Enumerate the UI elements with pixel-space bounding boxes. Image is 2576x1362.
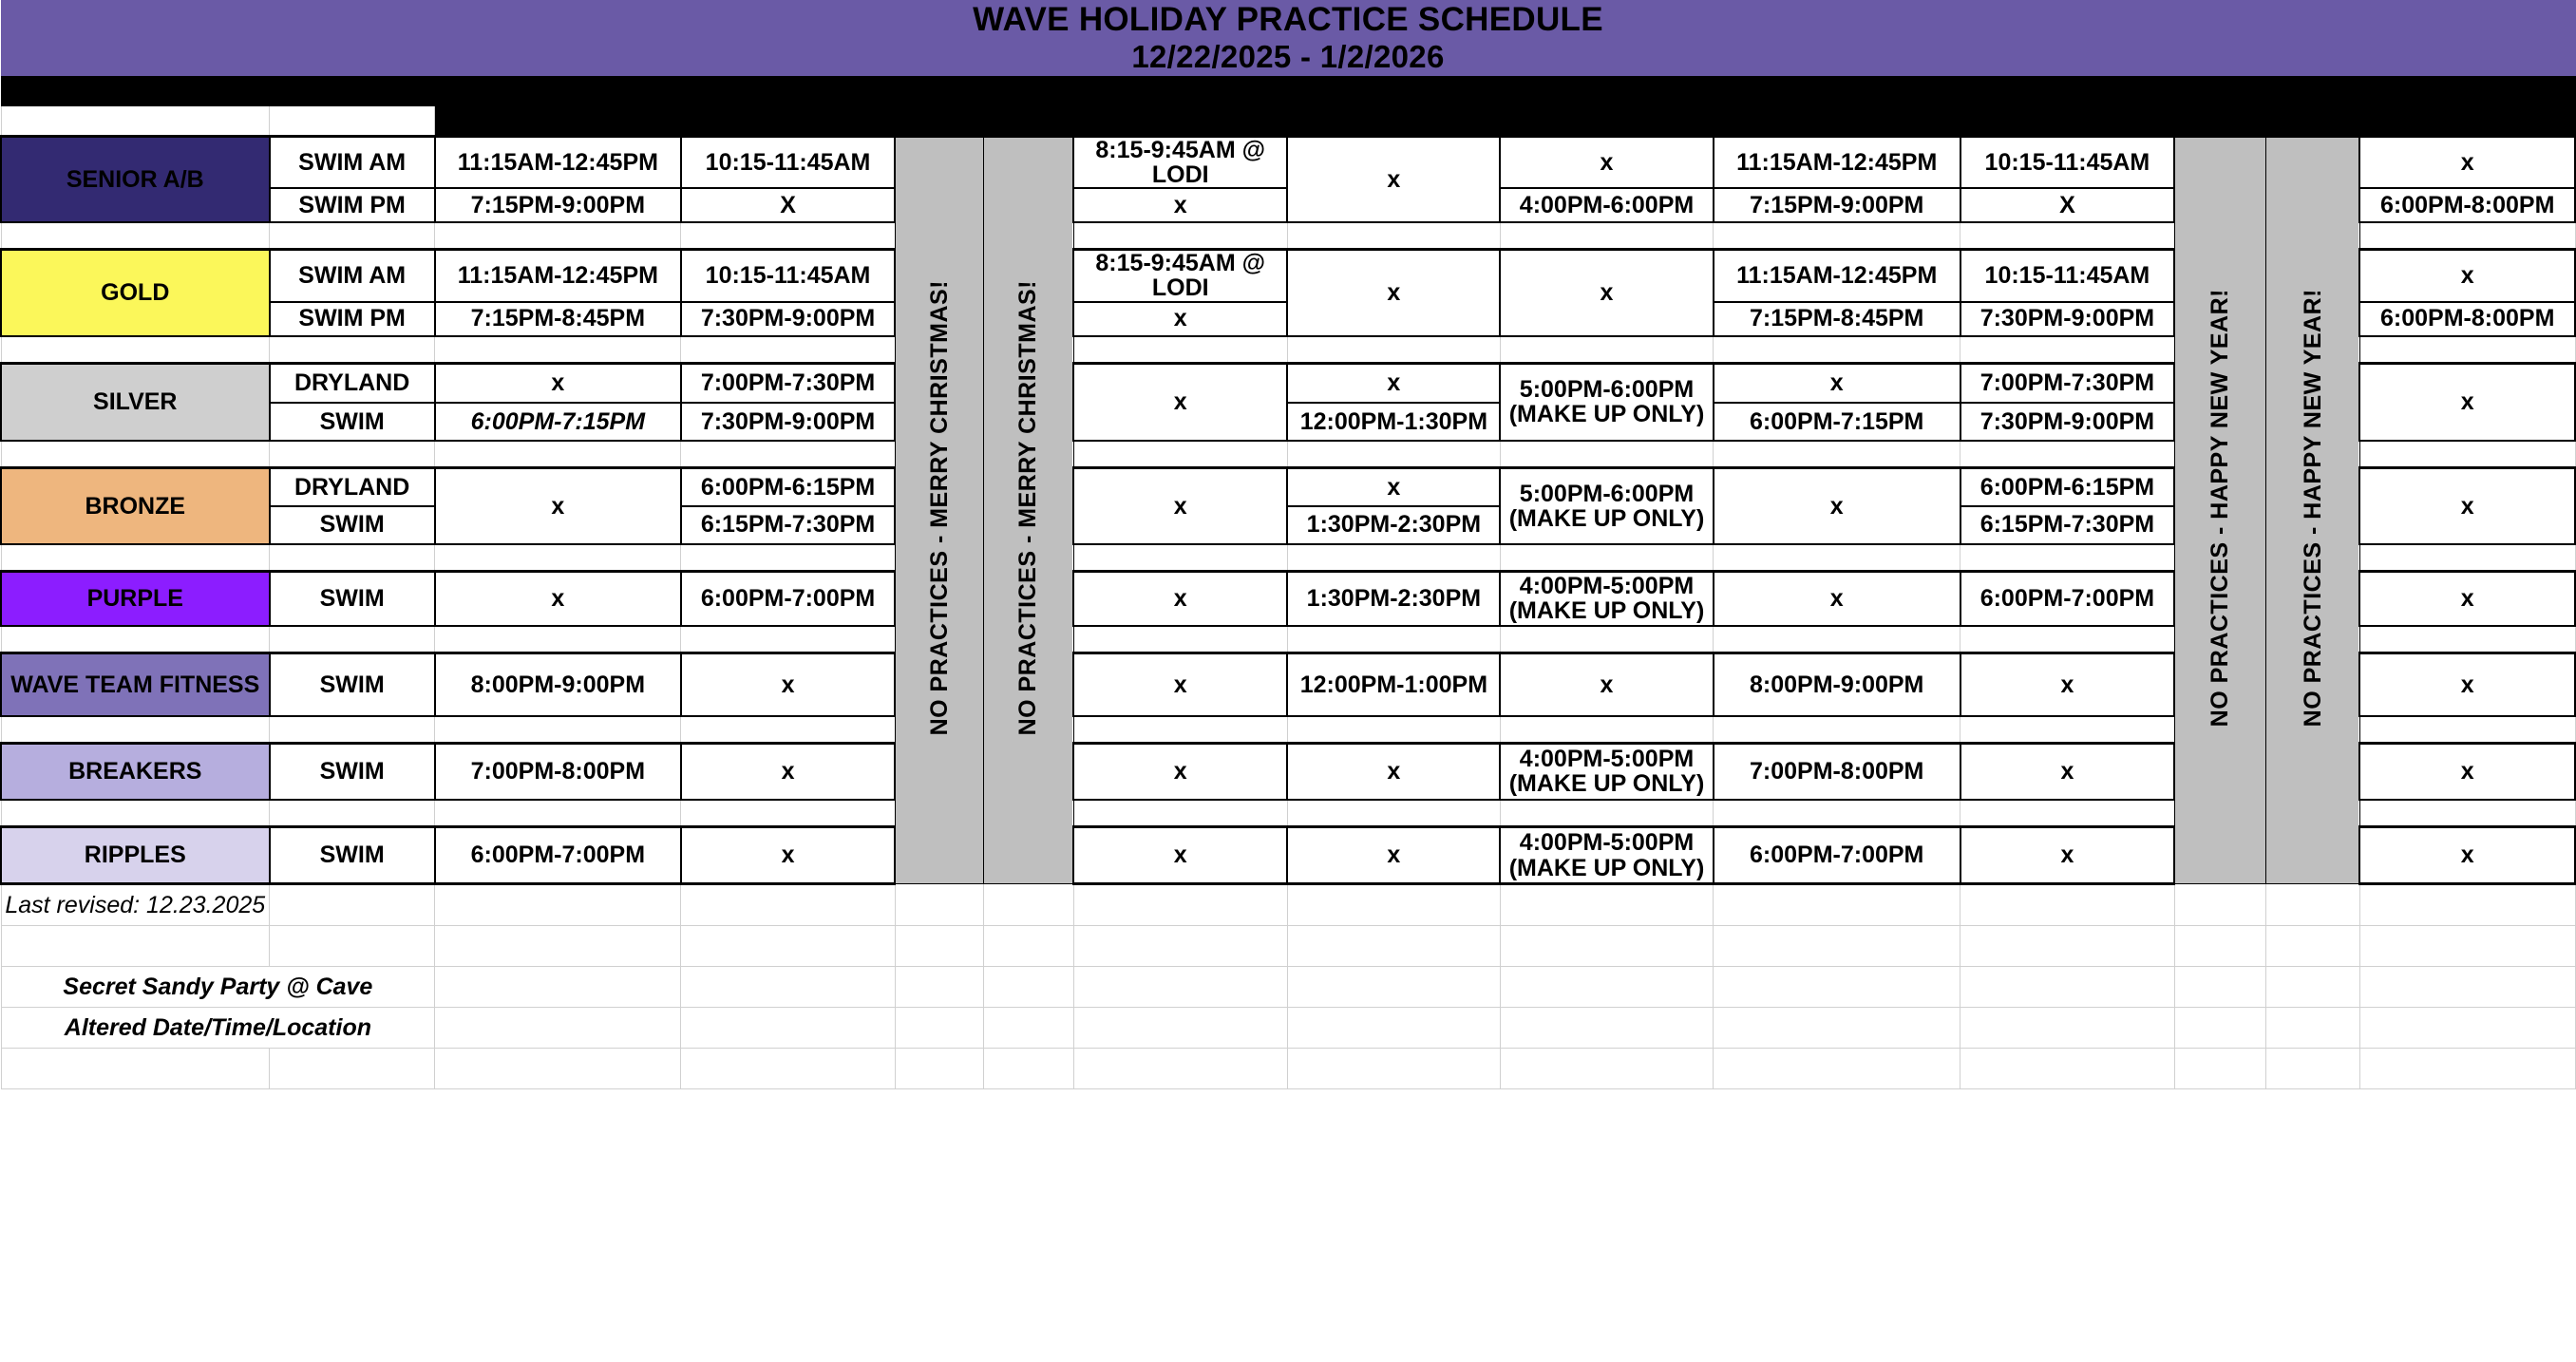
cell-gold-am-fri0102: x xyxy=(2359,250,2575,302)
header-date-11: 1/2 xyxy=(2359,105,2575,136)
footer-blank xyxy=(435,1049,681,1089)
footer-blank xyxy=(1960,926,2174,967)
spacer-cell xyxy=(1714,626,1960,653)
cell-breakers-fri1226: x xyxy=(1073,743,1287,800)
group-label-breakers: BREAKERS xyxy=(1,743,270,800)
cell-ripples-fri1226: x xyxy=(1073,827,1287,884)
footer-blank xyxy=(2266,1049,2360,1089)
subrow-label-silver-dryland: DRYLAND xyxy=(270,363,435,403)
footer-blank xyxy=(2266,926,2360,967)
header-date-blank-2 xyxy=(270,105,435,136)
spacer-cell xyxy=(270,626,435,653)
header-group-label: GROUP xyxy=(1,75,270,105)
cell-gold-am-tue1223: 10:15-11:45AM xyxy=(681,250,895,302)
spacer-cell xyxy=(1287,800,1500,827)
footer-blank xyxy=(270,884,435,926)
group-label-bronze: BRONZE xyxy=(1,468,270,544)
cell-gold-pm-mon1229: 7:15PM-8:45PM xyxy=(1714,302,1960,336)
header-day-2: WED xyxy=(895,75,983,105)
footer-blank xyxy=(984,967,1074,1008)
footer-blank xyxy=(1500,1008,1713,1049)
header-date-10: 1/1 xyxy=(2266,105,2360,136)
cell-silver-sun1228: 5:00PM-6:00PM (MAKE UP ONLY) xyxy=(1500,363,1713,441)
closure-christmas-1224: NO PRACTICES - MERRY CHRISTMAS! xyxy=(895,136,983,884)
cell-purple-sun1228: 4:00PM-5:00PM (MAKE UP ONLY) xyxy=(1500,571,1713,626)
spacer-cell xyxy=(2359,716,2575,744)
spacer-cell xyxy=(1287,336,1500,364)
cell-silver-fri0102: x xyxy=(2359,363,2575,441)
cell-silver-dry-tue1230: 7:00PM-7:30PM xyxy=(1960,363,2174,403)
spacer-cell xyxy=(1,800,270,827)
legend-secret-sandy: Secret Sandy Party @ Cave xyxy=(1,967,435,1008)
closure-christmas-1225-label: NO PRACTICES - MERRY CHRISTMAS! xyxy=(1015,280,1040,735)
footer-blank xyxy=(2359,1049,2575,1089)
footer-blank xyxy=(895,967,983,1008)
cell-ripples-sun1228: 4:00PM-5:00PM (MAKE UP ONLY) xyxy=(1500,827,1713,884)
spacer-cell xyxy=(1500,544,1713,572)
cell-silver-swim-mon1222: 6:00PM-7:15PM xyxy=(435,403,681,441)
cell-ripples-fri0102: x xyxy=(2359,827,2575,884)
footer-blank xyxy=(1960,1049,2174,1089)
footer-row-last xyxy=(1,1049,2575,1089)
spacer-cell xyxy=(435,800,681,827)
spacer-cell xyxy=(681,441,895,468)
footer-blank xyxy=(984,1008,1074,1049)
spacer-cell xyxy=(270,716,435,744)
legend-altered: Altered Date/Time/Location xyxy=(1,1008,435,1049)
cell-silver-fri1226: x xyxy=(1073,363,1287,441)
cell-breakers-tue1230: x xyxy=(1960,743,2174,800)
footer-blank xyxy=(270,1049,435,1089)
spacer-cell xyxy=(1714,222,1960,250)
cell-senior-am-mon1229: 11:15AM-12:45PM xyxy=(1714,136,1960,188)
spacer-cell xyxy=(1714,441,1960,468)
spacer-cell xyxy=(1073,716,1287,744)
last-revised-label: Last revised: 12.23.2025 xyxy=(1,884,270,926)
spacer-cell xyxy=(1500,222,1713,250)
footer-blank xyxy=(1500,967,1713,1008)
cell-purple-mon1222: x xyxy=(435,571,681,626)
spacer-cell xyxy=(435,222,681,250)
header-date-0: 12/22 xyxy=(435,105,681,136)
footer-blank xyxy=(2359,926,2575,967)
spacer-cell xyxy=(1,336,270,364)
footer-blank xyxy=(435,884,681,926)
cell-silver-swim-sat1227: 12:00PM-1:30PM xyxy=(1287,403,1500,441)
spacer-cell xyxy=(1500,800,1713,827)
spacer-cell xyxy=(681,626,895,653)
spacer-cell xyxy=(1960,336,2174,364)
footer-blank xyxy=(895,926,983,967)
cell-wtf-fri1226: x xyxy=(1073,653,1287,716)
header-date-blank-1 xyxy=(1,105,270,136)
spacer-cell xyxy=(1714,800,1960,827)
cell-breakers-mon1229: 7:00PM-8:00PM xyxy=(1714,743,1960,800)
spacer-cell xyxy=(1714,336,1960,364)
header-day-5: SAT xyxy=(1287,75,1500,105)
subrow-label-bronze-dryland: DRYLAND xyxy=(270,468,435,506)
cell-gold-am-fri1226: 8:15-9:45AM @ LODI xyxy=(1073,250,1287,302)
footer-blank xyxy=(1073,884,1287,926)
footer-blank xyxy=(1287,926,1500,967)
cell-wtf-sun1228: x xyxy=(1500,653,1713,716)
cell-ripples-mon1222: 6:00PM-7:00PM xyxy=(435,827,681,884)
cell-silver-swim-tue1223: 7:30PM-9:00PM xyxy=(681,403,895,441)
spacer-cell xyxy=(1960,626,2174,653)
footer-blank xyxy=(1287,884,1500,926)
spacer-cell xyxy=(1960,716,2174,744)
spacer-cell xyxy=(435,626,681,653)
spacer-cell xyxy=(1960,441,2174,468)
header-date-8: 12/30 xyxy=(1960,105,2174,136)
header-day-8: TUE xyxy=(1960,75,2174,105)
cell-gold-sat1227: x xyxy=(1287,250,1500,336)
spacer-cell xyxy=(2359,544,2575,572)
title-line-2: 12/22/2025 - 1/2/2026 xyxy=(2,39,2575,75)
header-date-6: 12/28 xyxy=(1500,105,1713,136)
cell-gold-pm-tue1223: 7:30PM-9:00PM xyxy=(681,302,895,336)
cell-senior-pm-tue1223: X xyxy=(681,188,895,222)
footer-blank xyxy=(984,926,1074,967)
footer-blank xyxy=(681,884,895,926)
cell-gold-pm-mon1222: 7:15PM-8:45PM xyxy=(435,302,681,336)
footer-blank xyxy=(1073,967,1287,1008)
cell-bronze-dry-tue1223: 6:00PM-6:15PM xyxy=(681,468,895,506)
cell-senior-pm-fri1226: x xyxy=(1073,188,1287,222)
header-date-2: 12/24 xyxy=(895,105,983,136)
day-header-row: GROUP MON TUE WED THU FRI SAT SUN MON TU… xyxy=(1,75,2575,105)
header-date-4: 12/26 xyxy=(1073,105,1287,136)
schedule-table: WAVE HOLIDAY PRACTICE SCHEDULE 12/22/202… xyxy=(0,0,2576,1089)
cell-gold-am-tue1230: 10:15-11:45AM xyxy=(1960,250,2174,302)
cell-senior-am-fri1226: 8:15-9:45AM @ LODI xyxy=(1073,136,1287,188)
cell-bronze-swim-sat1227: 1:30PM-2:30PM xyxy=(1287,506,1500,544)
footer-blank xyxy=(1073,1008,1287,1049)
group-label-wave-team-fitness: WAVE TEAM FITNESS xyxy=(1,653,270,716)
cell-senior-am-sun1228: x xyxy=(1500,136,1713,188)
cell-ripples-mon1229: 6:00PM-7:00PM xyxy=(1714,827,1960,884)
cell-wtf-mon1222: 8:00PM-9:00PM xyxy=(435,653,681,716)
spacer-cell xyxy=(270,441,435,468)
cell-ripples-tue1230: x xyxy=(1960,827,2174,884)
header-date-9: 12/31 xyxy=(2174,105,2266,136)
spacer-cell xyxy=(1500,716,1713,744)
cell-breakers-mon1222: 7:00PM-8:00PM xyxy=(435,743,681,800)
footer-blank xyxy=(1714,1008,1960,1049)
cell-senior-pm-mon1222: 7:15PM-9:00PM xyxy=(435,188,681,222)
group-label-purple: PURPLE xyxy=(1,571,270,626)
footer-blank xyxy=(1073,926,1287,967)
schedule-title: WAVE HOLIDAY PRACTICE SCHEDULE 12/22/202… xyxy=(1,1,2575,76)
footer-blank xyxy=(1960,1008,2174,1049)
cell-senior-am-fri0102: x xyxy=(2359,136,2575,188)
cell-senior-pm-fri0102: 6:00PM-8:00PM xyxy=(2359,188,2575,222)
cell-bronze-dry-tue1230: 6:00PM-6:15PM xyxy=(1960,468,2174,506)
title-row: WAVE HOLIDAY PRACTICE SCHEDULE 12/22/202… xyxy=(1,1,2575,76)
spacer-cell xyxy=(681,544,895,572)
footer-blank xyxy=(1714,1049,1960,1089)
subrow-label-wtf-swim: SWIM xyxy=(270,653,435,716)
spacer-cell xyxy=(1287,544,1500,572)
spacer-cell xyxy=(1960,544,2174,572)
cell-silver-dry-mon1229: x xyxy=(1714,363,1960,403)
header-day-10: THU xyxy=(2266,75,2360,105)
header-date-3: 12/25 xyxy=(984,105,1074,136)
closure-newyear-0101: NO PRACTICES - HAPPY NEW YEAR! xyxy=(2266,136,2360,884)
cell-purple-mon1229: x xyxy=(1714,571,1960,626)
spacer-cell xyxy=(1960,222,2174,250)
footer-blank xyxy=(1500,926,1713,967)
cell-gold-pm-fri0102: 6:00PM-8:00PM xyxy=(2359,302,2575,336)
cell-bronze-swim-tue1230: 6:15PM-7:30PM xyxy=(1960,506,2174,544)
footer-blank xyxy=(2174,967,2266,1008)
cell-purple-sat1227: 1:30PM-2:30PM xyxy=(1287,571,1500,626)
cell-wtf-mon1229: 8:00PM-9:00PM xyxy=(1714,653,1960,716)
cell-breakers-sun1228: 4:00PM-5:00PM (MAKE UP ONLY) xyxy=(1500,743,1713,800)
header-date-1: 12/23 xyxy=(681,105,895,136)
header-day-7: MON xyxy=(1714,75,1960,105)
footer-blank xyxy=(1,1049,270,1089)
cell-bronze-swim-tue1223: 6:15PM-7:30PM xyxy=(681,506,895,544)
footer-blank xyxy=(681,926,895,967)
subrow-label-purple-swim: SWIM xyxy=(270,571,435,626)
footer-blank xyxy=(270,926,435,967)
header-day-6: SUN xyxy=(1500,75,1713,105)
header-day-1: TUE xyxy=(681,75,895,105)
cell-gold-sun1228: x xyxy=(1500,250,1713,336)
spacer-cell xyxy=(681,800,895,827)
spacer-cell xyxy=(2359,336,2575,364)
footer-blank xyxy=(1287,967,1500,1008)
cell-senior-pm-mon1229: 7:15PM-9:00PM xyxy=(1714,188,1960,222)
spacer-cell xyxy=(1,544,270,572)
spacer-cell xyxy=(2359,441,2575,468)
spacer-cell xyxy=(1500,336,1713,364)
footer-blank xyxy=(1073,1049,1287,1089)
footer-blank xyxy=(435,926,681,967)
subrow-label-silver-swim: SWIM xyxy=(270,403,435,441)
closure-christmas-1225: NO PRACTICES - MERRY CHRISTMAS! xyxy=(984,136,1074,884)
spacer-cell xyxy=(435,441,681,468)
cell-senior-am-mon1222: 11:15AM-12:45PM xyxy=(435,136,681,188)
subrow-label-gold-pm: SWIM PM xyxy=(270,302,435,336)
footer-blank xyxy=(2174,1008,2266,1049)
spacer-cell xyxy=(2359,222,2575,250)
cell-bronze-sun1228: 5:00PM-6:00PM (MAKE UP ONLY) xyxy=(1500,468,1713,544)
cell-ripples-sat1227: x xyxy=(1287,827,1500,884)
spacer-cell xyxy=(1073,336,1287,364)
cell-purple-fri1226: x xyxy=(1073,571,1287,626)
subrow-label-gold-am: SWIM AM xyxy=(270,250,435,302)
spacer-cell xyxy=(1500,441,1713,468)
cell-silver-dry-tue1223: 7:00PM-7:30PM xyxy=(681,363,895,403)
title-line-1: WAVE HOLIDAY PRACTICE SCHEDULE xyxy=(2,1,2575,39)
header-subgroup-blank xyxy=(270,75,435,105)
header-day-0: MON xyxy=(435,75,681,105)
spacer-cell xyxy=(1073,626,1287,653)
subrow-label-senior-am: SWIM AM xyxy=(270,136,435,188)
closure-newyear-1231-label: NO PRACTICES - HAPPY NEW YEAR! xyxy=(2207,289,2232,727)
spacer-cell xyxy=(681,222,895,250)
footer-blank xyxy=(2174,1049,2266,1089)
footer-blank xyxy=(1960,967,2174,1008)
spacer-cell xyxy=(1,626,270,653)
cell-gold-pm-fri1226: x xyxy=(1073,302,1287,336)
row-senior-swim-am: SENIOR A/B SWIM AM 11:15AM-12:45PM 10:15… xyxy=(1,136,2575,188)
footer-blank xyxy=(435,1008,681,1049)
cell-breakers-fri0102: x xyxy=(2359,743,2575,800)
spacer-cell xyxy=(681,716,895,744)
footer-blank xyxy=(1714,884,1960,926)
cell-wtf-sat1227: 12:00PM-1:00PM xyxy=(1287,653,1500,716)
spacer-cell xyxy=(1,441,270,468)
spacer-cell xyxy=(1073,800,1287,827)
group-label-ripples: RIPPLES xyxy=(1,827,270,884)
spacer-cell xyxy=(1073,222,1287,250)
spacer-cell xyxy=(1287,716,1500,744)
schedule-sheet: WAVE HOLIDAY PRACTICE SCHEDULE 12/22/202… xyxy=(0,0,2576,1362)
group-label-silver: SILVER xyxy=(1,363,270,441)
footer-blank xyxy=(1714,926,1960,967)
spacer-cell xyxy=(435,544,681,572)
spacer-cell xyxy=(1287,441,1500,468)
spacer-cell xyxy=(270,222,435,250)
footer-blank xyxy=(984,1049,1074,1089)
spacer-cell xyxy=(435,336,681,364)
header-date-5: 12/27 xyxy=(1287,105,1500,136)
header-date-7: 12/29 xyxy=(1714,105,1960,136)
cell-gold-am-mon1222: 11:15AM-12:45PM xyxy=(435,250,681,302)
spacer-cell xyxy=(2359,800,2575,827)
cell-purple-fri0102: x xyxy=(2359,571,2575,626)
cell-silver-dry-mon1222: x xyxy=(435,363,681,403)
subrow-label-bronze-swim: SWIM xyxy=(270,506,435,544)
cell-gold-pm-tue1230: 7:30PM-9:00PM xyxy=(1960,302,2174,336)
footer-blank xyxy=(681,1008,895,1049)
cell-senior-am-tue1223: 10:15-11:45AM xyxy=(681,136,895,188)
cell-silver-swim-mon1229: 6:00PM-7:15PM xyxy=(1714,403,1960,441)
cell-senior-am-tue1230: 10:15-11:45AM xyxy=(1960,136,2174,188)
subrow-label-breakers-swim: SWIM xyxy=(270,743,435,800)
spacer-cell xyxy=(435,716,681,744)
spacer-cell xyxy=(1500,626,1713,653)
cell-purple-tue1223: 6:00PM-7:00PM xyxy=(681,571,895,626)
footer-blank xyxy=(681,967,895,1008)
footer-blank xyxy=(1714,967,1960,1008)
footer-blank xyxy=(2359,884,2575,926)
spacer-cell xyxy=(1287,222,1500,250)
footer-blank xyxy=(435,967,681,1008)
cell-bronze-fri0102: x xyxy=(2359,468,2575,544)
cell-breakers-sat1227: x xyxy=(1287,743,1500,800)
cell-bronze-mon1222: x xyxy=(435,468,681,544)
closure-christmas-1224-label: NO PRACTICES - MERRY CHRISTMAS! xyxy=(927,280,952,735)
footer-blank xyxy=(1287,1008,1500,1049)
spacer-cell xyxy=(681,336,895,364)
cell-silver-dry-sat1227: x xyxy=(1287,363,1500,403)
footer-blank xyxy=(2266,967,2360,1008)
spacer-cell xyxy=(1,716,270,744)
spacer-cell xyxy=(1073,544,1287,572)
cell-breakers-tue1223: x xyxy=(681,743,895,800)
footer-blank xyxy=(2174,884,2266,926)
footer-blank xyxy=(2174,926,2266,967)
cell-gold-am-mon1229: 11:15AM-12:45PM xyxy=(1714,250,1960,302)
closure-newyear-0101-label: NO PRACTICES - HAPPY NEW YEAR! xyxy=(2301,289,2325,727)
spacer-cell xyxy=(1960,800,2174,827)
cell-wtf-tue1230: x xyxy=(1960,653,2174,716)
footer-blank xyxy=(1500,1049,1713,1089)
group-label-gold: GOLD xyxy=(1,250,270,336)
footer-blank xyxy=(2359,967,2575,1008)
footer-blank xyxy=(984,884,1074,926)
footer-blank xyxy=(1287,1049,1500,1089)
date-header-row: 12/22 12/23 12/24 12/25 12/26 12/27 12/2… xyxy=(1,105,2575,136)
footer-blank xyxy=(681,1049,895,1089)
footer-blank xyxy=(1500,884,1713,926)
header-day-4: FRI xyxy=(1073,75,1287,105)
cell-wtf-fri0102: x xyxy=(2359,653,2575,716)
cell-ripples-tue1223: x xyxy=(681,827,895,884)
subrow-label-ripples-swim: SWIM xyxy=(270,827,435,884)
cell-wtf-tue1223: x xyxy=(681,653,895,716)
cell-senior-pm-tue1230: X xyxy=(1960,188,2174,222)
legend-row-green: Secret Sandy Party @ Cave xyxy=(1,967,2575,1008)
footer-blank xyxy=(2359,1008,2575,1049)
spacer-cell xyxy=(1073,441,1287,468)
header-day-3: THU xyxy=(984,75,1074,105)
spacer-cell xyxy=(270,800,435,827)
footer-blank xyxy=(1960,884,2174,926)
footer-blank xyxy=(1,926,270,967)
spacer-cell xyxy=(1,222,270,250)
spacer-cell xyxy=(1287,626,1500,653)
cell-bronze-dry-sat1227: x xyxy=(1287,468,1500,506)
cell-bronze-mon1229: x xyxy=(1714,468,1960,544)
cell-bronze-fri1226: x xyxy=(1073,468,1287,544)
closure-newyear-1231: NO PRACTICES - HAPPY NEW YEAR! xyxy=(2174,136,2266,884)
footer-row-gap xyxy=(1,926,2575,967)
legend-row-red: Altered Date/Time/Location xyxy=(1,1008,2575,1049)
footer-row-revised: Last revised: 12.23.2025 xyxy=(1,884,2575,926)
cell-purple-tue1230: 6:00PM-7:00PM xyxy=(1960,571,2174,626)
spacer-cell xyxy=(270,544,435,572)
cell-senior-pm-sun1228: 4:00PM-6:00PM xyxy=(1500,188,1713,222)
spacer-cell xyxy=(2359,626,2575,653)
footer-blank xyxy=(895,1008,983,1049)
cell-silver-swim-tue1230: 7:30PM-9:00PM xyxy=(1960,403,2174,441)
spacer-cell xyxy=(270,336,435,364)
footer-blank xyxy=(2266,884,2360,926)
header-day-9: WED xyxy=(2174,75,2266,105)
footer-blank xyxy=(895,1049,983,1089)
footer-blank xyxy=(2266,1008,2360,1049)
footer-blank xyxy=(895,884,983,926)
group-label-senior: SENIOR A/B xyxy=(1,136,270,222)
spacer-cell xyxy=(1714,716,1960,744)
subrow-label-senior-pm: SWIM PM xyxy=(270,188,435,222)
header-day-11: FRI xyxy=(2359,75,2575,105)
spacer-cell xyxy=(1714,544,1960,572)
cell-senior-sat1227: x xyxy=(1287,136,1500,222)
